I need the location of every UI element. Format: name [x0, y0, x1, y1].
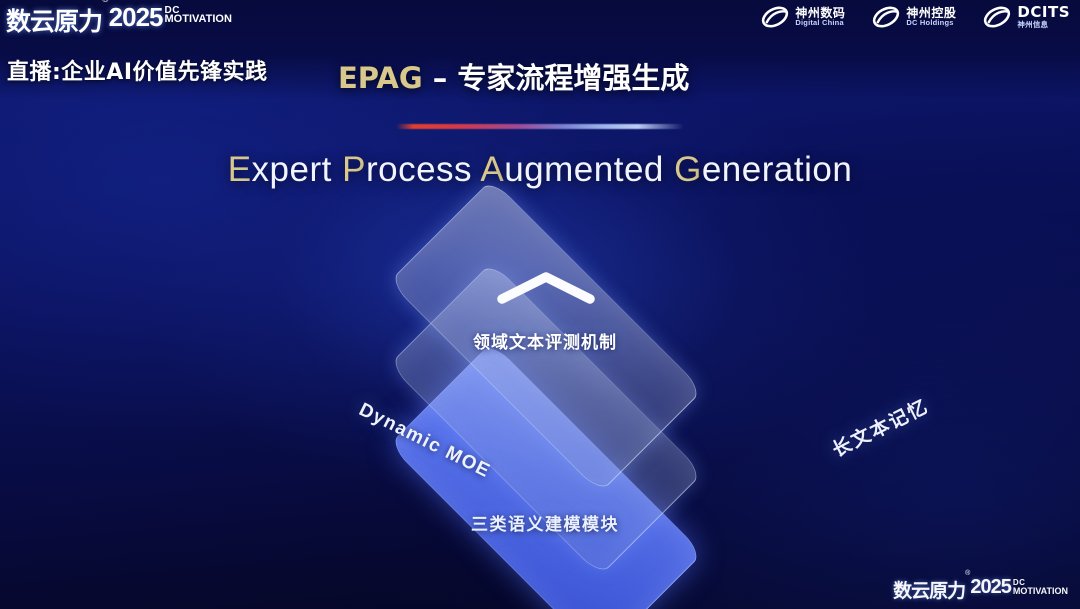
partner-en-name: Digital China [795, 19, 845, 27]
partner-cn-name: DCITS [1017, 5, 1070, 21]
partner-logo-group: 神州数码 Digital China 神州控股 DC Holdings [760, 4, 1070, 30]
footer-watermark-logo: 数云原力®2025DCMOTIVATION [893, 576, 1068, 603]
partner-label-dc-holdings: 神州控股 DC Holdings [906, 7, 956, 27]
partner-label-digital-china: 神州数码 Digital China [795, 7, 845, 27]
subtitle-word-process: rocess [366, 150, 472, 189]
partner-logo-dcits: DCITS 神州信息 [982, 4, 1070, 30]
title-acronym: EPAG [338, 61, 423, 95]
partner-logo-digital-china: 神州数码 Digital China [760, 4, 845, 30]
brand-logo-chinese: 数云原力 [6, 2, 102, 38]
title-separator: – [423, 61, 458, 95]
swoosh-icon [760, 4, 790, 30]
brand-logo-dc-motivation: DCMOTIVATION [165, 6, 232, 24]
brand-logo: 数云原力®2025DCMOTIVATION [6, 2, 232, 38]
brand-logo-year: 2025 [109, 2, 163, 33]
page-title: EPAG – 专家流程增强生成 [338, 55, 689, 97]
layered-architecture-diagram: 领域文本评测机制 Dynamic MOE 长文本记忆 三类语义建模模块 [300, 228, 790, 573]
subtitle-word-augmented: ugmented [504, 150, 664, 189]
diagram-label-bottom: 三类语义建模模块 [300, 510, 790, 535]
live-stream-title: 直播:企业AI价值先锋实践 [7, 54, 268, 86]
title-chinese: 专家流程增强生成 [457, 61, 689, 95]
brand-registered-mark: ® [102, 0, 109, 4]
diagram-label-long-text-memory: 长文本记忆 [827, 391, 933, 462]
swoosh-icon [982, 4, 1012, 30]
footer-dc-motivation: DCMOTIVATION [1013, 579, 1068, 595]
partner-label-dcits: DCITS 神州信息 [1017, 5, 1070, 29]
subtitle-initial-e: E [228, 150, 252, 189]
subtitle-initial-a: A [480, 150, 504, 189]
partner-en-name: DC Holdings [906, 19, 956, 27]
partner-en-name: 神州信息 [1017, 21, 1070, 29]
subtitle-word-generation: eneration [702, 150, 852, 189]
partner-logo-dc-holdings: 神州控股 DC Holdings [871, 4, 956, 30]
brand-motivation-text: MOTIVATION [165, 15, 232, 24]
footer-brand-chinese: 数云原力 [893, 576, 965, 603]
slide-canvas: 数云原力®2025DCMOTIVATION 直播:企业AI价值先锋实践 神州数码… [0, 0, 1080, 609]
subtitle-initial-p: P [342, 150, 366, 189]
swoosh-icon [871, 4, 901, 30]
footer-motivation-text: MOTIVATION [1013, 587, 1068, 595]
footer-registered-mark: ® [965, 570, 970, 577]
subtitle-word-expert: xpert [252, 150, 332, 189]
accent-gradient-line [396, 124, 684, 129]
diagram-label-top: 领域文本评测机制 [300, 328, 790, 353]
footer-brand-year: 2025 [970, 576, 1011, 599]
subtitle-initial-g: G [674, 150, 702, 189]
page-subtitle: Expert Process Augmented Generation [0, 150, 1080, 190]
